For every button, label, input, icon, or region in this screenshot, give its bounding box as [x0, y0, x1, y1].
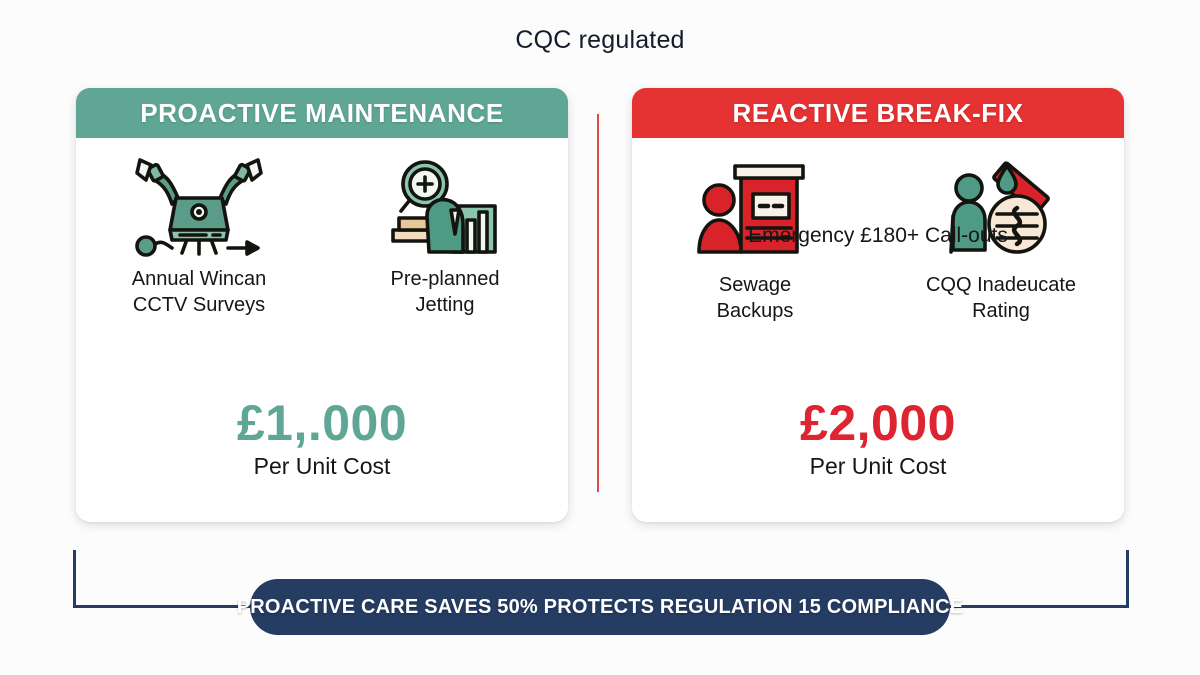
infographic-canvas: CQC regulated PROACTIVE MAINTENANCE: [0, 0, 1200, 675]
page-title: CQC regulated: [0, 26, 1200, 55]
reactive-price-caption: Per Unit Cost: [632, 453, 1124, 480]
reactive-item-0: Sewage Backups: [655, 272, 855, 325]
proactive-price-caption: Per Unit Cost: [76, 453, 568, 480]
reactive-item-0-line1: Sewage: [655, 272, 855, 298]
proactive-item-1-line1: Pre-planned: [345, 266, 545, 292]
proactive-item-0-line2: CCTV Surveys: [99, 292, 299, 318]
reactive-label-row: Sewage Backups CQQ Inadeucate Rating: [632, 272, 1124, 325]
magnifier-survey-chart-icon: [355, 154, 535, 258]
proactive-item-1: Pre-planned Jetting: [345, 266, 545, 319]
bracket-left-stem: [73, 550, 76, 608]
reactive-card-body: Emergency £180+ Call-outs Sewage Backups…: [632, 138, 1124, 522]
proactive-item-0: Annual Wincan CCTV Surveys: [99, 266, 299, 319]
reactive-price-block: £2,000 Per Unit Cost: [632, 397, 1124, 480]
reactive-break-fix-card: REACTIVE BREAK-FIX: [632, 88, 1124, 522]
reactive-card-header: REACTIVE BREAK-FIX: [632, 88, 1124, 138]
proactive-maintenance-card: PROACTIVE MAINTENANCE: [76, 88, 568, 522]
proactive-card-body: Annual Wincan CCTV Surveys Pre-planned J…: [76, 138, 568, 522]
cctv-crawler-robot-icon: [109, 154, 289, 258]
proactive-price: £1,.000: [76, 397, 568, 449]
reactive-item-0-line2: Backups: [655, 298, 855, 324]
bracket-right-stem: [1126, 550, 1129, 608]
emergency-callouts-caption: Emergency £180+ Call-outs: [632, 224, 1124, 248]
proactive-label-row: Annual Wincan CCTV Surveys Pre-planned J…: [76, 266, 568, 319]
reactive-item-1: CQQ Inadeucate Rating: [901, 272, 1101, 325]
reactive-item-1-line2: Rating: [901, 298, 1101, 324]
center-divider: [597, 114, 599, 492]
proactive-price-block: £1,.000 Per Unit Cost: [76, 397, 568, 480]
proactive-item-1-line2: Jetting: [345, 292, 545, 318]
reactive-price: £2,000: [632, 397, 1124, 449]
proactive-item-0-line1: Annual Wincan: [99, 266, 299, 292]
reactive-item-1-line1: CQQ Inadeucate: [901, 272, 1101, 298]
proactive-card-header: PROACTIVE MAINTENANCE: [76, 88, 568, 138]
proactive-icon-row: [76, 154, 568, 258]
summary-banner: PROACTIVE CARE SAVES 50% PROTECTS REGULA…: [250, 579, 950, 635]
